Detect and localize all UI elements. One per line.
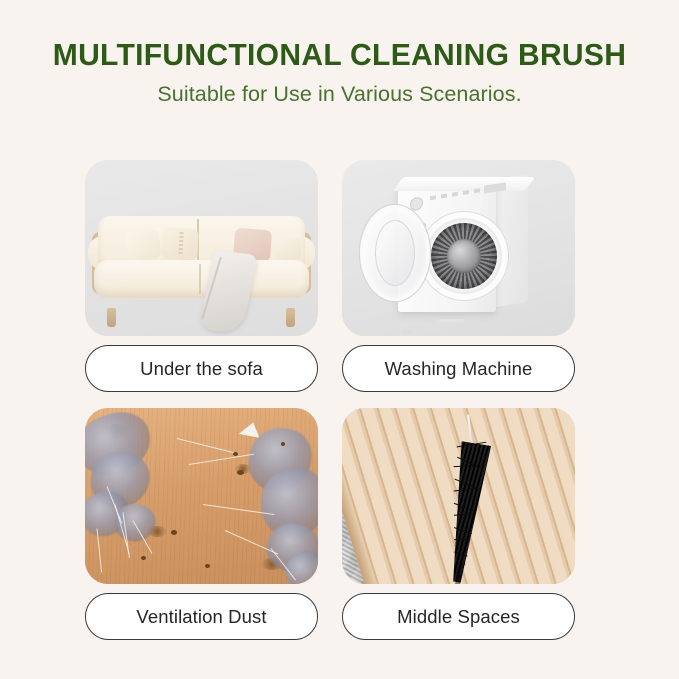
- scenario-grid: Under the sofa Washing Machine: [85, 160, 575, 640]
- ventilation-dust-photo: [85, 408, 318, 584]
- scenario-card-washing-machine[interactable]: Washing Machine: [342, 160, 575, 392]
- header: MULTIFUNCTIONAL CLEANING BRUSH Suitable …: [0, 0, 679, 107]
- middle-spaces-photo: [342, 408, 575, 584]
- washing-machine-photo: [342, 160, 575, 336]
- scenario-label-washing-machine: Washing Machine: [342, 345, 575, 392]
- scenario-label-under-the-sofa: Under the sofa: [85, 345, 318, 392]
- sofa-photo: [85, 160, 318, 336]
- scenario-label-ventilation-dust: Ventilation Dust: [85, 593, 318, 640]
- scenario-label-middle-spaces: Middle Spaces: [342, 593, 575, 640]
- page-subtitle: Suitable for Use in Various Scenarios.: [0, 82, 679, 107]
- scenario-card-middle-spaces[interactable]: Middle Spaces: [342, 408, 575, 640]
- page-title: MULTIFUNCTIONAL CLEANING BRUSH: [5, 38, 674, 73]
- scenario-card-under-the-sofa[interactable]: Under the sofa: [85, 160, 318, 392]
- scenario-card-ventilation-dust[interactable]: Ventilation Dust: [85, 408, 318, 640]
